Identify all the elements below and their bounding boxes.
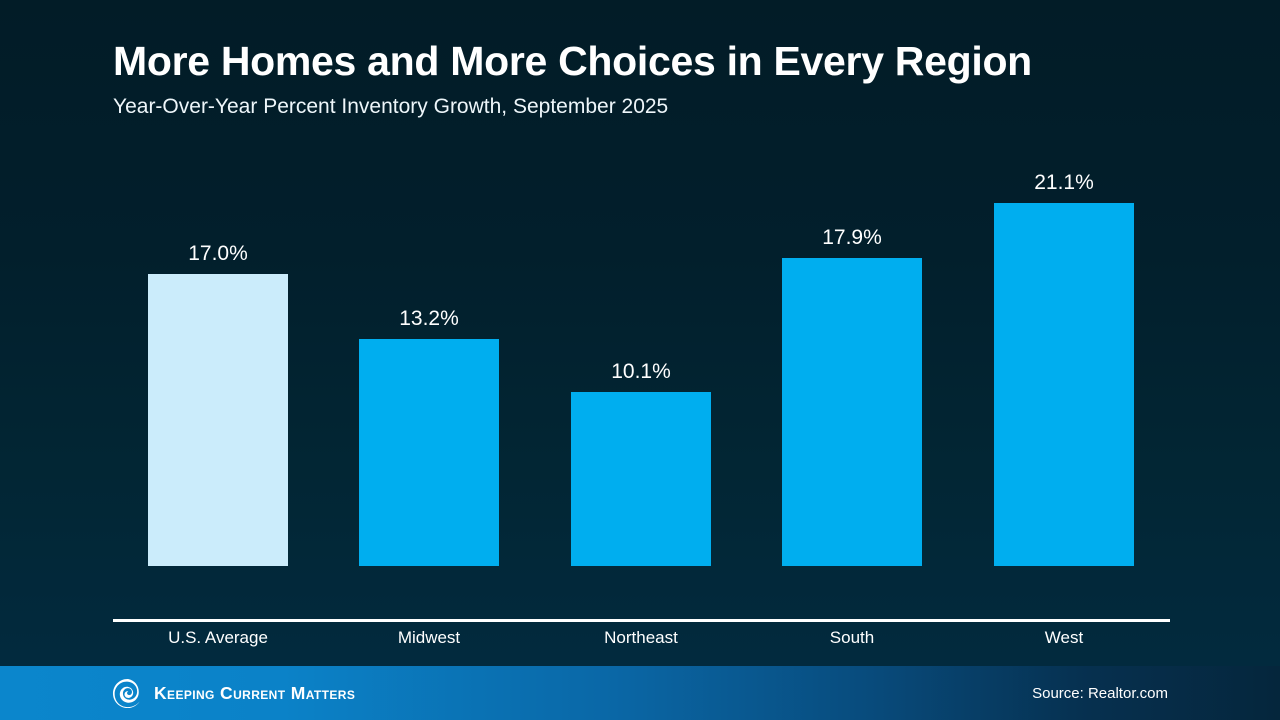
bar-value-label: 21.1% [1034,172,1094,193]
bar-value-label: 10.1% [611,361,671,382]
x-axis-line [113,619,1170,622]
source-label: Source: Realtor.com [1032,685,1168,702]
x-axis-label-midwest: Midwest [349,628,509,648]
brand-name-label: Keeping Current Matters [154,683,355,704]
x-axis-label-us-average: U.S. Average [138,628,298,648]
x-axis-label-west: West [984,628,1144,648]
brand-logo: Keeping Current Matters [112,678,355,709]
bar-northeast [571,392,711,566]
bar-value-label: 13.2% [399,308,459,329]
x-axis-label-northeast: Northeast [561,628,721,648]
x-axis-label-south: South [772,628,932,648]
bar-south [782,258,922,566]
bar-west [994,203,1134,566]
bar-value-label: 17.9% [822,227,882,248]
bar-chart-plot-area: 17.0% 13.2% 10.1% 17.9% 21.1% U.S. Avera… [0,0,1280,666]
bar-us-average [148,274,288,566]
spiral-circle-logo-icon [112,678,143,709]
bar-value-label: 17.0% [188,243,248,264]
footer-bar: Keeping Current Matters Source: Realtor.… [0,666,1280,720]
chart-slide: More Homes and More Choices in Every Reg… [0,0,1280,720]
bar-midwest [359,339,499,566]
